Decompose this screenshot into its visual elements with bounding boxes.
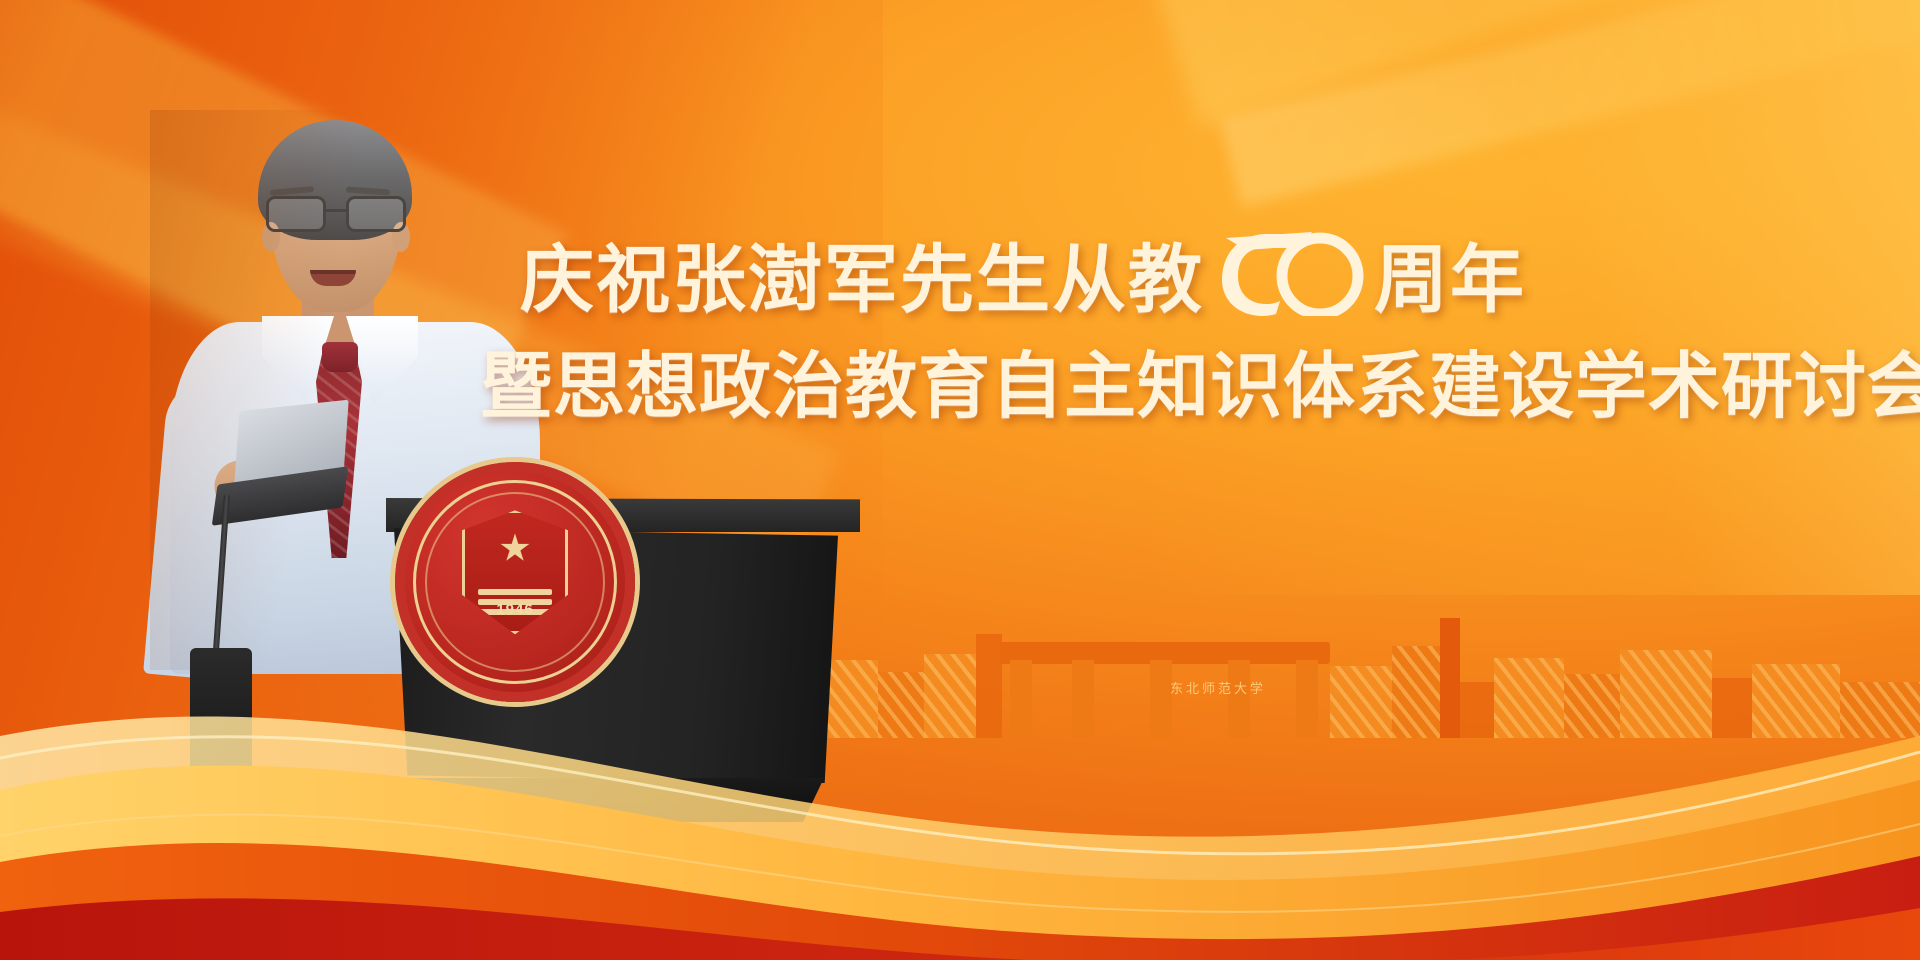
- seal-star-icon: [500, 533, 530, 563]
- title-line-1-suffix: 周年: [1374, 244, 1526, 318]
- event-banner: 东北师范大学: [0, 0, 1920, 960]
- title-line-1-prefix: 庆祝张澍军先生从教: [520, 244, 1204, 318]
- seal-founding-year: 1946: [496, 601, 533, 618]
- speaker-necktie-knot: [322, 342, 358, 372]
- title-line-2: 暨思想政治教育自主知识体系建设学术研讨会: [480, 351, 1860, 423]
- banner-title-block: 庆祝张澍军先生从教 周年 暨思想政治教育自主知识体系建设学术研讨会: [520, 228, 1860, 423]
- title-line-1: 庆祝张澍军先生从教 周年: [520, 228, 1860, 333]
- bottom-ribbon-decoration: [0, 640, 1920, 960]
- anniversary-50-logo: [1216, 224, 1366, 329]
- speaker-eyeglasses: [262, 196, 412, 234]
